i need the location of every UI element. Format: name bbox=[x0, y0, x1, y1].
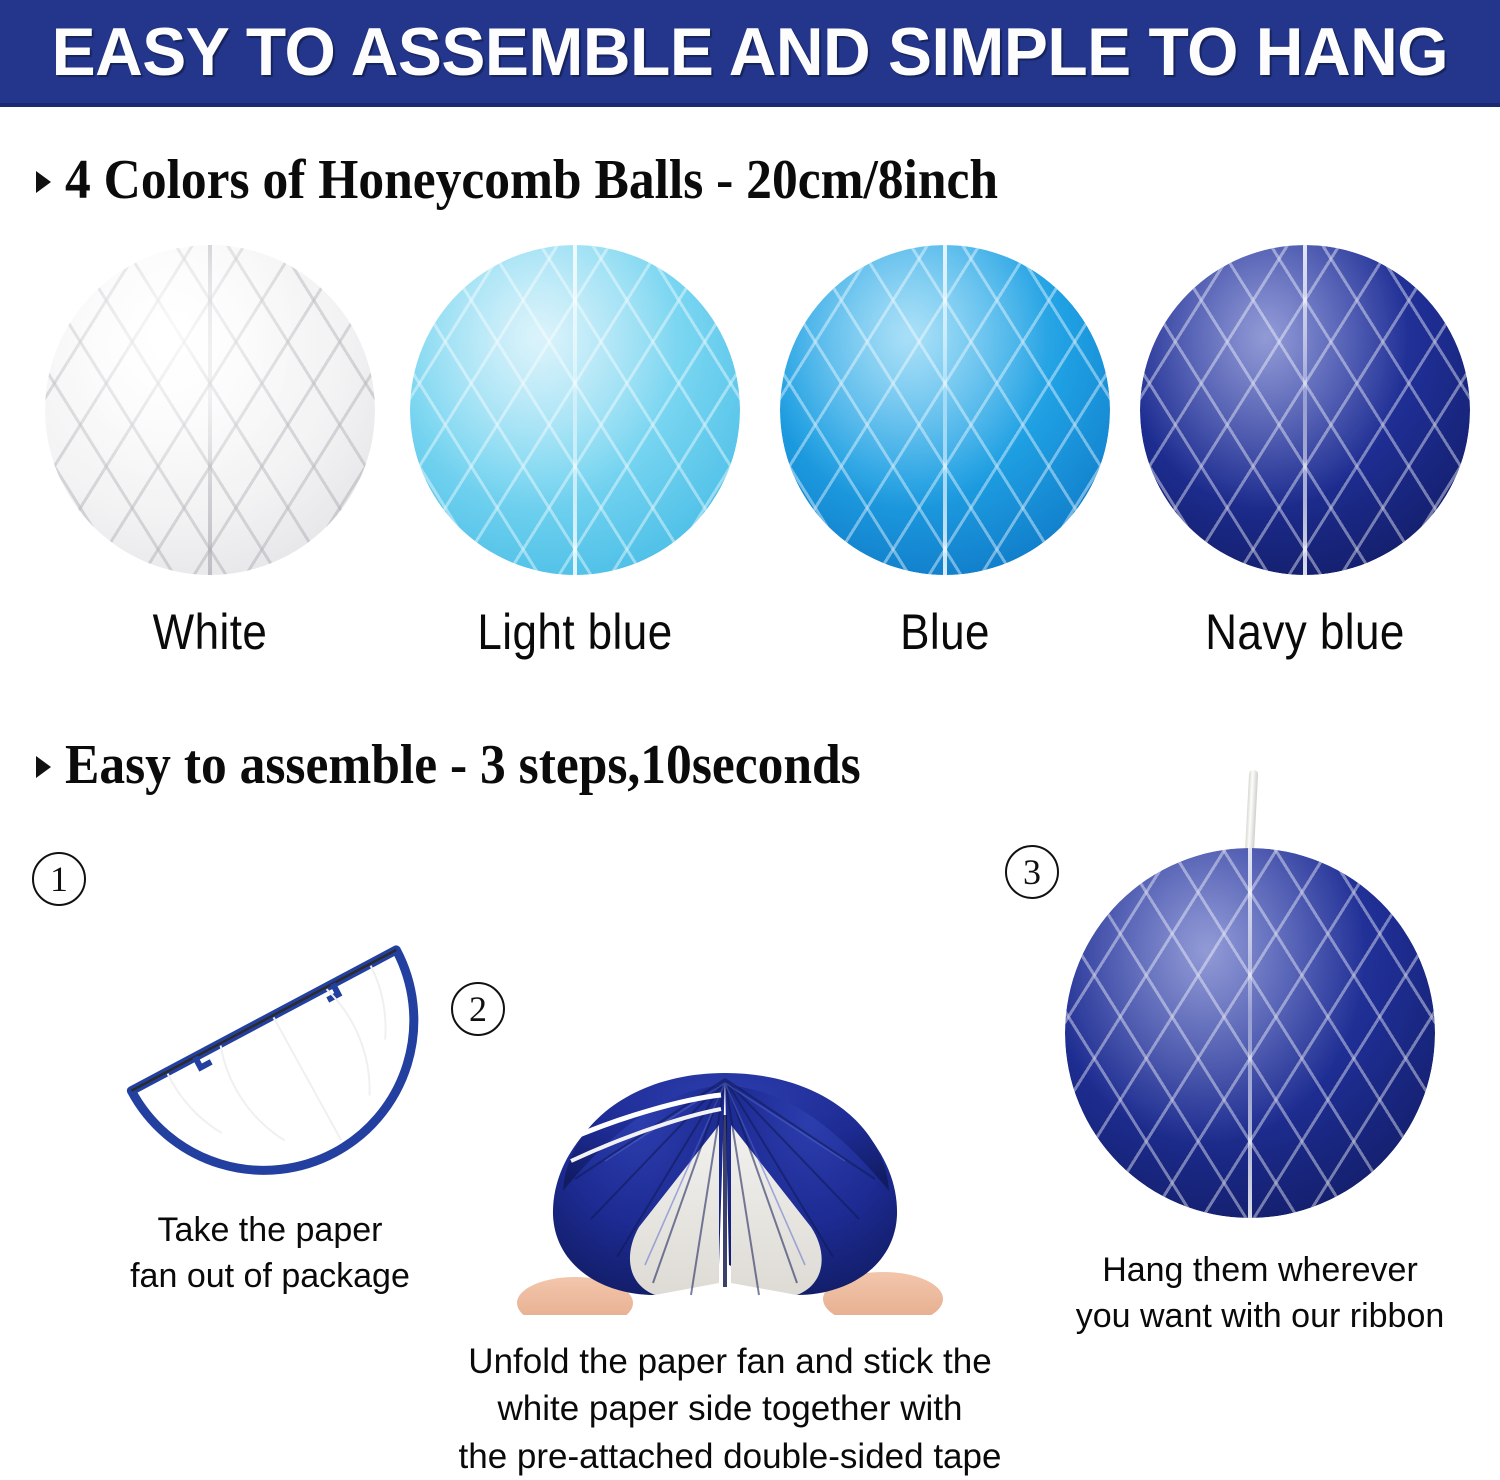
ball-label-white: White bbox=[47, 603, 373, 661]
assemble-section-heading: Easy to assemble - 3 steps,10seconds bbox=[36, 733, 930, 797]
step-number-2: 2 bbox=[451, 982, 505, 1036]
step-3-caption: Hang them wherever you want with our rib… bbox=[1030, 1248, 1490, 1340]
step-3-hanging-ball-image bbox=[1055, 770, 1445, 1230]
hanging-ribbon bbox=[1245, 770, 1258, 856]
unfolded-fan-illustration bbox=[505, 965, 945, 1315]
step-number-3: 3 bbox=[1005, 845, 1059, 899]
folded-fan-illustration bbox=[95, 855, 495, 1195]
ball-label-navy-blue: Navy blue bbox=[1142, 603, 1468, 661]
triangle-right-icon bbox=[36, 756, 51, 778]
honeycomb-ball-light-blue bbox=[410, 245, 740, 575]
colors-heading-text: 4 Colors of Honeycomb Balls - 20cm/8inch bbox=[65, 148, 998, 212]
half-disc-body bbox=[131, 950, 466, 1195]
half-disc-group bbox=[131, 950, 466, 1195]
step-2-caption: Unfold the paper fan and stick the white… bbox=[430, 1338, 1030, 1480]
triangle-right-icon bbox=[36, 171, 51, 193]
ball-shading bbox=[780, 245, 1110, 575]
header-banner: EASY TO ASSEMBLE AND SIMPLE TO HANG bbox=[0, 0, 1500, 107]
center-split bbox=[723, 1115, 727, 1287]
colors-section-heading: 4 Colors of Honeycomb Balls - 20cm/8inch bbox=[36, 148, 1079, 212]
ball-label-light-blue: Light blue bbox=[412, 603, 738, 661]
step-2-unfolded-fan-image bbox=[505, 965, 945, 1315]
honeycomb-ball-blue bbox=[780, 245, 1110, 575]
honeycomb-ball-hanging-navy bbox=[1065, 848, 1435, 1218]
assemble-heading-text: Easy to assemble - 3 steps,10seconds bbox=[65, 733, 861, 797]
honeycomb-ball-navy-blue bbox=[1140, 245, 1470, 575]
ball-item-navy-blue: Navy blue bbox=[1120, 245, 1490, 661]
ball-shading bbox=[1065, 848, 1435, 1218]
ball-shading bbox=[45, 245, 375, 575]
ball-item-light-blue: Light blue bbox=[390, 245, 760, 661]
ball-label-blue: Blue bbox=[782, 603, 1108, 661]
step-number-1: 1 bbox=[32, 852, 86, 906]
ball-item-white: White bbox=[25, 245, 395, 661]
step-1-folded-fan-image bbox=[95, 855, 495, 1195]
honeycomb-ball-white bbox=[45, 245, 375, 575]
ball-shading bbox=[410, 245, 740, 575]
banner-title: EASY TO ASSEMBLE AND SIMPLE TO HANG bbox=[52, 13, 1448, 91]
honeycomb-ball-row: White Light blue Blue Navy blue bbox=[0, 245, 1500, 705]
ball-shading bbox=[1140, 245, 1470, 575]
step-1-caption: Take the paper fan out of package bbox=[60, 1208, 480, 1300]
ball-item-blue: Blue bbox=[760, 245, 1130, 661]
